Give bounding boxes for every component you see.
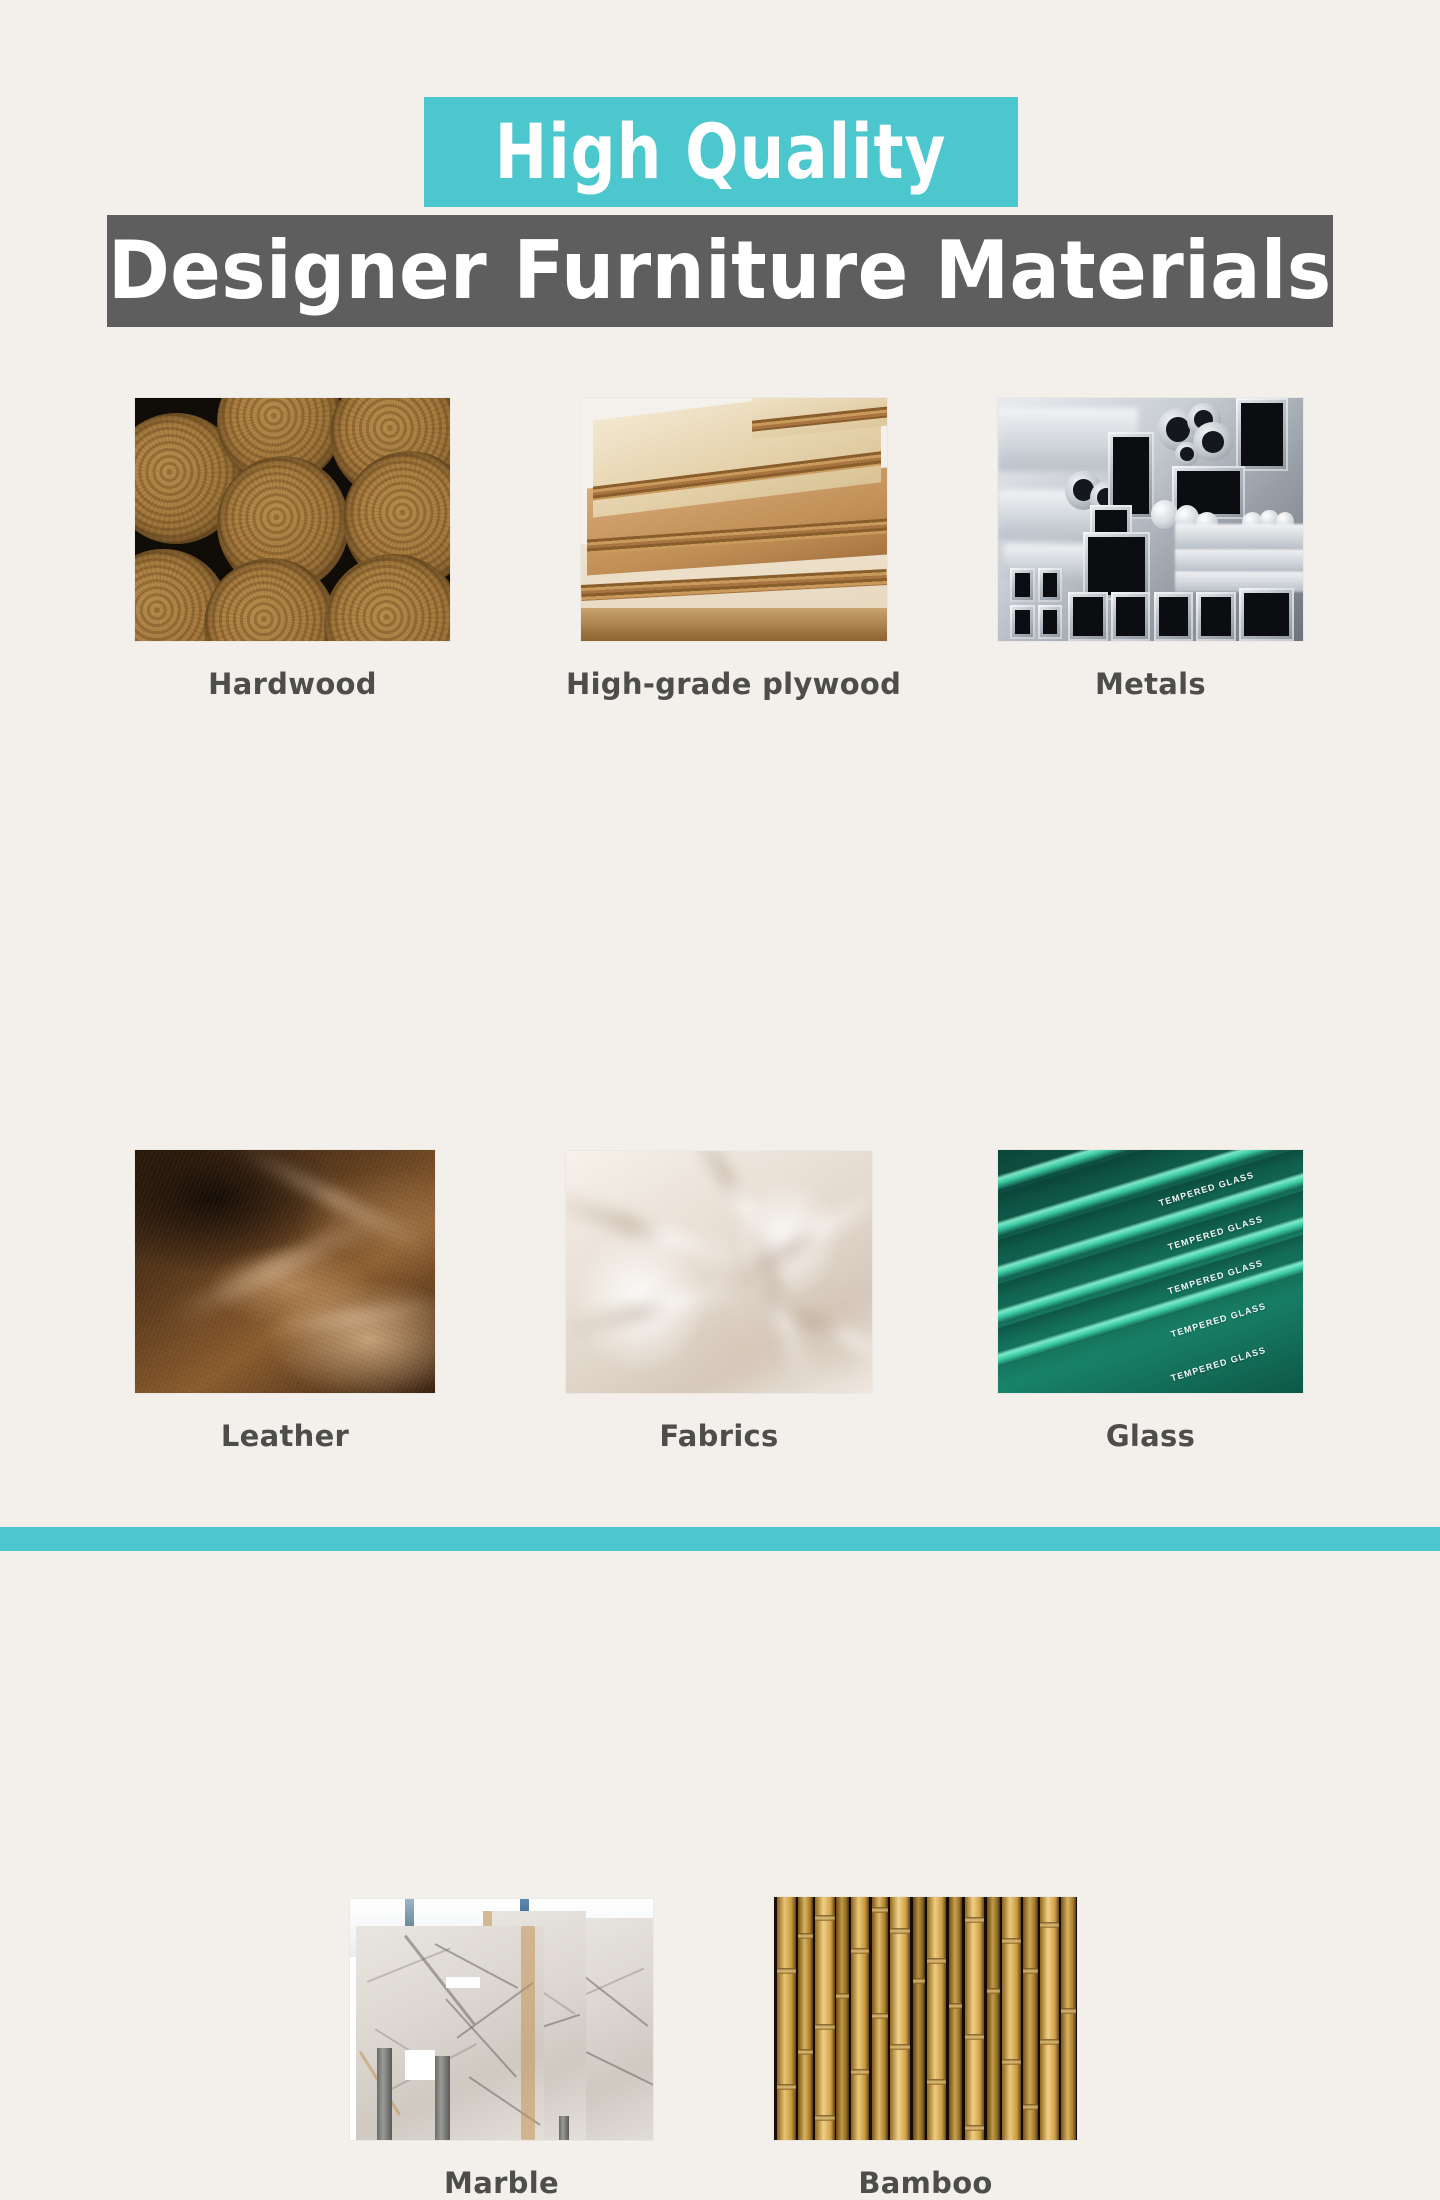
material-card-metals[interactable]: Metals <box>998 398 1303 701</box>
materials-row-2: Leather Fabrics <box>0 765 1440 1140</box>
material-label: Hardwood <box>208 667 377 701</box>
material-card-marble[interactable]: Marble <box>350 1899 653 2200</box>
materials-row-1: Hardwood <box>0 390 1440 765</box>
marble-photo <box>350 1899 653 2140</box>
material-label: Bamboo <box>858 2166 992 2200</box>
title-top-text: High Quality <box>495 114 947 190</box>
title-main-text: Designer Furniture Materials <box>108 231 1332 311</box>
footer-accent-bar <box>0 1527 1440 1551</box>
metals-photo <box>998 398 1303 641</box>
plywood-photo <box>581 398 887 641</box>
material-label: High-grade plywood <box>566 667 901 701</box>
material-label: Metals <box>1095 667 1206 701</box>
material-label: Marble <box>444 2166 559 2200</box>
materials-grid: Hardwood <box>0 390 1440 1515</box>
bamboo-photo <box>774 1897 1077 2140</box>
material-card-hardwood[interactable]: Hardwood <box>135 398 450 701</box>
title-top-banner: High Quality <box>424 97 1018 207</box>
material-card-plywood[interactable]: High-grade plywood <box>566 398 901 701</box>
title-main-banner: Designer Furniture Materials <box>107 215 1333 327</box>
material-card-bamboo[interactable]: Bamboo <box>774 1897 1077 2200</box>
hardwood-photo <box>135 398 450 641</box>
materials-row-3: Marble <box>0 1140 1440 1515</box>
